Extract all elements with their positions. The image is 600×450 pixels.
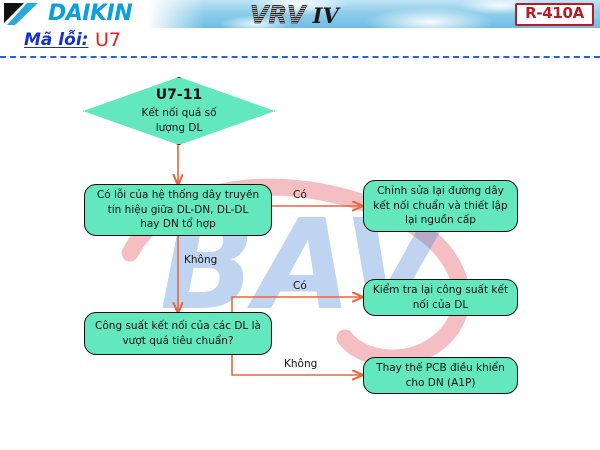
node-action-1[interactable]: Chỉnh sửa lại đường dây kết nối chuẩn và… <box>363 180 518 232</box>
node-decision-1[interactable]: Có lỗi của hệ thống dây truyền tín hiệu … <box>84 184 272 236</box>
node-action-2-line2: nối của DL <box>373 298 508 313</box>
node-decision-1-line2: tín hiệu giữa DL-DN, DL-DL <box>97 203 259 218</box>
node-decision-1-line3: hay DN tổ hợp <box>97 217 259 232</box>
node-action-3[interactable]: Thay thế PCB điều khiển cho DN (A1P) <box>363 357 518 394</box>
error-code-row: Mã lỗi: U7 <box>0 28 600 58</box>
edge-label-yes-1: Có <box>293 189 307 201</box>
flowchart-canvas: U7-11 Kết nối quá số lượng DL Có lỗi của… <box>0 58 600 450</box>
vrv-generation: IV <box>313 3 339 28</box>
node-start-subtitle-line2: lượng DL <box>141 121 216 136</box>
vrv-product-line: VRV <box>250 1 306 28</box>
daikin-triangle-logo-icon <box>4 3 48 25</box>
node-decision-1-line1: Có lỗi của hệ thống dây truyền <box>97 188 259 203</box>
edge-label-no-1: Không <box>184 254 217 266</box>
node-action-2-line1: Kiểm tra lại công suất kết <box>373 283 508 298</box>
wire-decision2-yes <box>232 297 362 312</box>
node-decision-2[interactable]: Công suất kết nối của các DL là vượt quá… <box>84 312 272 355</box>
node-start-title: U7-11 <box>156 87 202 103</box>
edge-label-yes-2: Có <box>293 280 307 292</box>
node-action-3-line1: Thay thế PCB điều khiển <box>376 361 505 376</box>
node-decision-2-line1: Công suất kết nối của các DL là <box>95 319 261 334</box>
node-action-1-line2: kết nối chuẩn và thiết lập <box>373 199 507 214</box>
node-start-subtitle-line1: Kết nối quá số <box>141 106 216 121</box>
daikin-wordmark: DAIKIN <box>48 1 132 26</box>
error-code-value: U7 <box>95 29 121 51</box>
node-action-2[interactable]: Kiểm tra lại công suất kết nối của DL <box>363 279 518 316</box>
node-decision-2-line2: vượt quá tiêu chuẩn? <box>95 334 261 349</box>
node-action-1-line3: lại nguồn cấp <box>373 213 507 228</box>
header-banner: DAIKIN VRV IV R-410A <box>0 0 600 28</box>
error-code-label: Mã lỗi: <box>24 30 88 50</box>
node-start-subtitle: Kết nối quá số lượng DL <box>141 106 216 135</box>
vrv-wordmark: VRV IV <box>250 1 339 28</box>
node-action-1-line1: Chỉnh sửa lại đường dây <box>373 184 507 199</box>
node-action-3-line2: cho DN (A1P) <box>376 376 505 391</box>
refrigerant-badge: R-410A <box>515 3 594 26</box>
edge-label-no-2: Không <box>284 358 317 370</box>
